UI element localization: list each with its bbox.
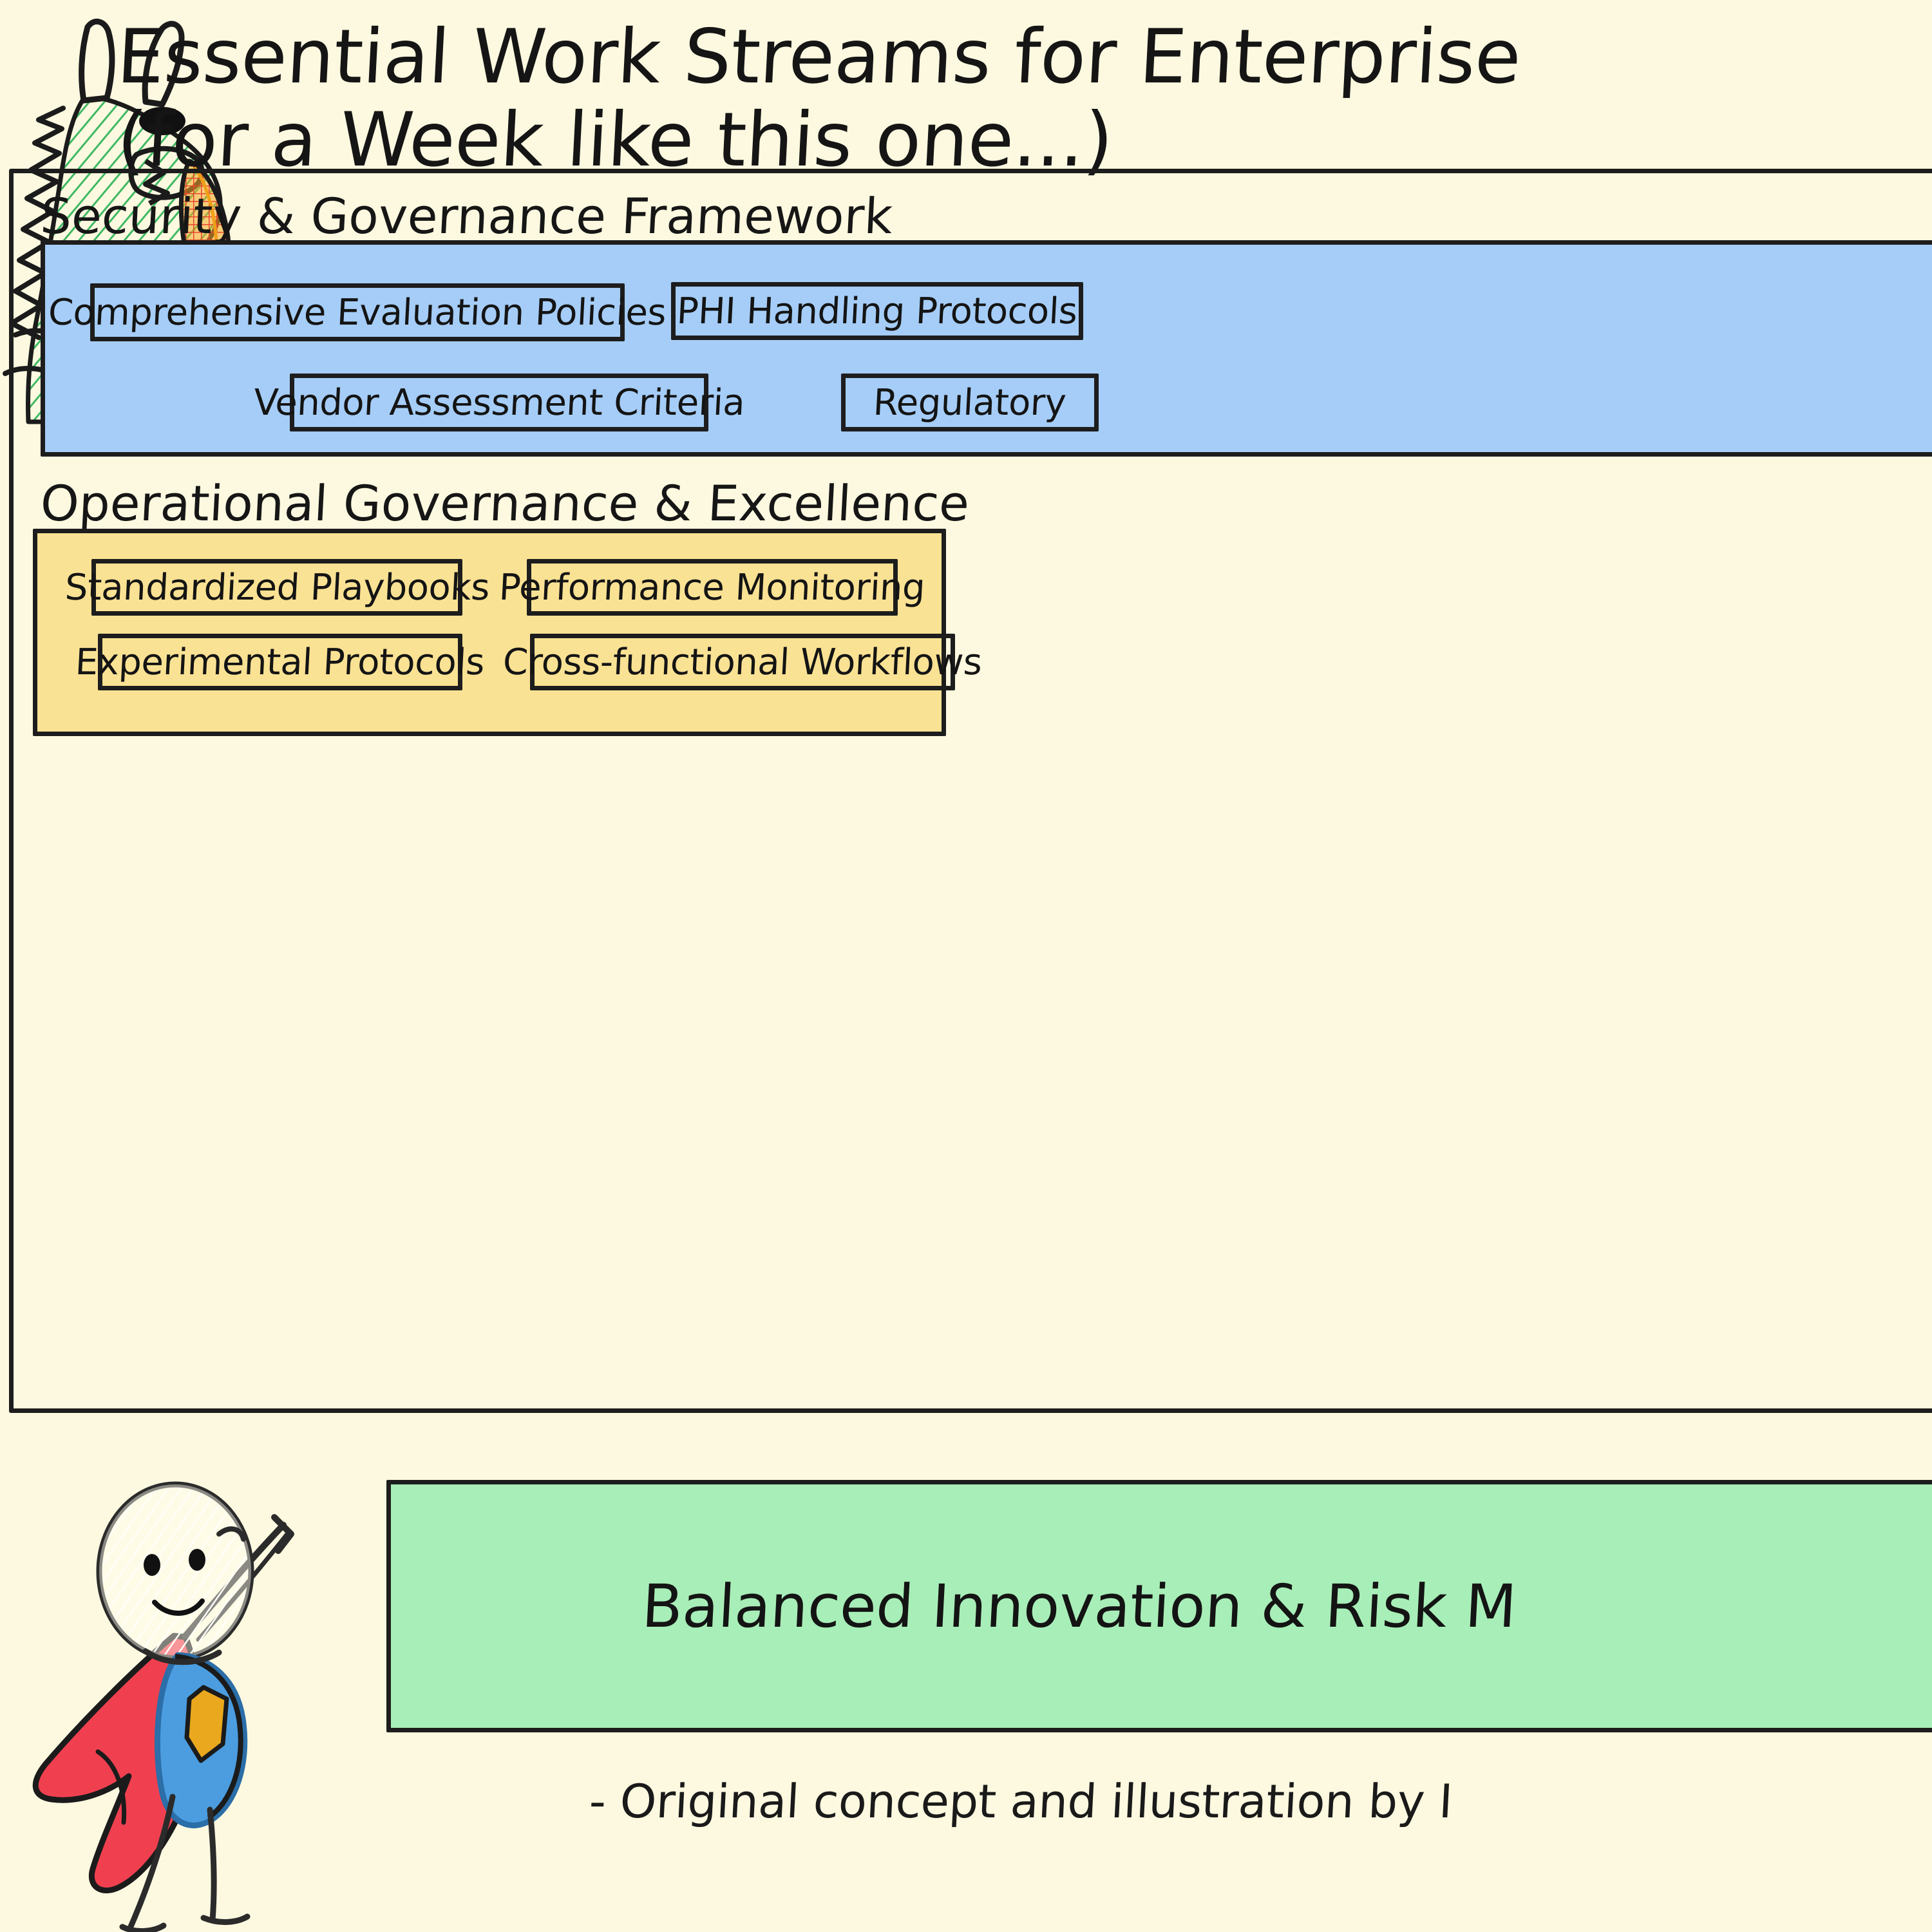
banner-label: Balanced Innovation & Risk M [389, 1572, 1518, 1641]
attribution-text: - Original concept and illustration by I [588, 1774, 1454, 1828]
page-title: Essential Work Streams for Enterprise (f… [117, 18, 1932, 180]
item-label: Vendor Assessment Criteria [241, 382, 757, 424]
item-box-cross-functional-workflows[interactable]: Cross-functional Workflows [530, 634, 955, 690]
item-box-performance-monitoring[interactable]: Performance Monitoring [527, 559, 898, 616]
panel-security-governance: Comprehensive Evaluation Policies PHI Ha… [41, 240, 1932, 457]
item-label: Standardized Playbooks [52, 567, 502, 609]
item-box-standardized-playbooks[interactable]: Standardized Playbooks [91, 559, 462, 616]
item-label: Comprehensive Evaluation Policies [36, 292, 679, 334]
item-label: Cross-functional Workflows [491, 641, 995, 683]
item-box-experimental-protocols[interactable]: Experimental Protocols [98, 634, 462, 690]
work-streams-frame: Security & Governance Framework Comprehe… [9, 169, 1932, 1413]
panel-operational-governance: Standardized Playbooks Performance Monit… [33, 529, 946, 736]
item-box-vendor-assessment-criteria[interactable]: Vendor Assessment Criteria [290, 374, 708, 431]
item-box-comprehensive-evaluation-policies[interactable]: Comprehensive Evaluation Policies [90, 283, 625, 341]
item-box-phi-handling-protocols[interactable]: PHI Handling Protocols [671, 282, 1083, 340]
panel-balanced-innovation-risk[interactable]: Balanced Innovation & Risk M [386, 1480, 1932, 1732]
title-line-1: Essential Work Streams for Enterprise [115, 18, 1932, 97]
item-label: PHI Handling Protocols [665, 290, 1090, 332]
item-label: Performance Monitoring [487, 567, 938, 609]
item-box-regulatory[interactable]: Regulatory [841, 374, 1099, 431]
group-heading-operational-governance: Operational Governance & Excellence [39, 475, 971, 532]
item-label: Regulatory [861, 382, 1079, 424]
group-heading-security-governance: Security & Governance Framework [39, 187, 895, 245]
item-label: Experimental Protocols [63, 641, 497, 683]
